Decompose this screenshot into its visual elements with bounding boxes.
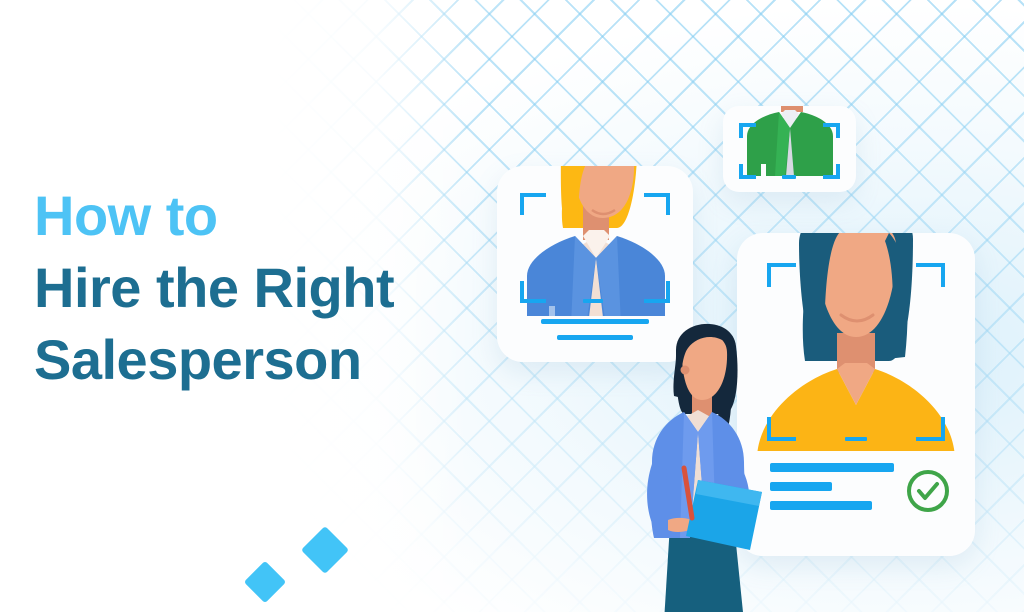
scan-bracket-top-left — [739, 123, 756, 138]
scan-center-dash — [782, 175, 796, 179]
scan-bracket-bottom-right — [823, 164, 840, 179]
recruiter-woman-figure — [640, 302, 780, 612]
card-text-line-2 — [557, 335, 633, 340]
redhead-man-portrait — [723, 106, 856, 192]
headline-line-1: How to — [34, 188, 504, 244]
scan-bracket-bottom-right — [644, 281, 670, 303]
scan-bracket-top-right — [916, 263, 945, 287]
card-text-line-1 — [770, 463, 894, 472]
headline-line-3: Salesperson — [34, 332, 504, 388]
check-circle-icon — [903, 466, 953, 516]
scan-bracket-top-right — [823, 123, 840, 138]
scan-center-dash — [583, 299, 603, 303]
scan-bracket-bottom-right — [916, 417, 945, 441]
scan-bracket-top-left — [520, 193, 546, 215]
scan-bracket-top-left — [767, 263, 796, 287]
scan-bracket-top-right — [644, 193, 670, 215]
headline-block: How to Hire the Right Salesperson — [34, 188, 504, 388]
card-text-line-3 — [770, 501, 872, 510]
scan-bracket-bottom-left — [520, 281, 546, 303]
scan-bracket-bottom-left — [739, 164, 756, 179]
card-text-line-1 — [541, 319, 649, 324]
scan-center-dash — [845, 437, 867, 441]
candidate-card-redhead-man[interactable] — [723, 106, 856, 192]
headline-line-2: Hire the Right — [34, 260, 504, 316]
hero-banner: How to Hire the Right Salesperson — [0, 0, 1024, 612]
